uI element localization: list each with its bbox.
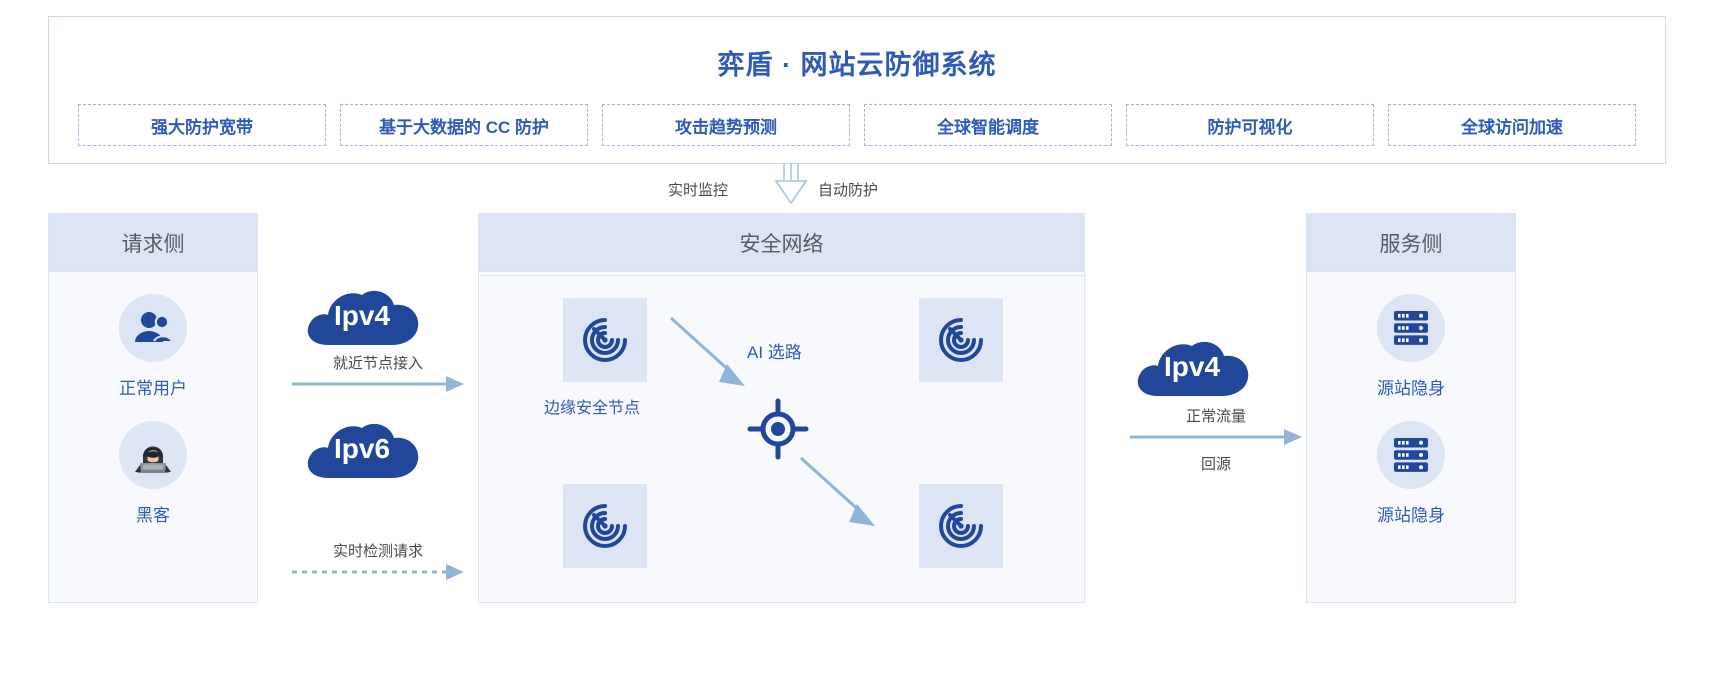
- crosshair-target-icon: [747, 398, 809, 460]
- ai-route-label: AI 选路: [747, 338, 802, 363]
- flow-detect-caption: 实时检测请求: [288, 540, 468, 561]
- feature-chip-5[interactable]: 全球访问加速: [1388, 104, 1636, 146]
- flow-access-caption: 就近节点接入: [288, 352, 468, 373]
- service-node-list: 源站隐身: [1307, 272, 1515, 526]
- hacker-icon: [119, 421, 187, 489]
- flow-origin-caption-bottom: 回源: [1126, 453, 1306, 474]
- feature-chip-2[interactable]: 攻击趋势预测: [602, 104, 850, 146]
- connector-label-right: 自动防护: [818, 179, 878, 200]
- radar-node-icon: [919, 484, 1003, 568]
- radar-node-icon: [563, 298, 647, 382]
- service-node-label-0: 源站隐身: [1307, 374, 1515, 399]
- header-to-body-connector: 实时监控 自动防护: [0, 163, 1714, 213]
- feature-chip-3[interactable]: 全球智能调度: [864, 104, 1112, 146]
- flow-access-arrow-svg: [288, 373, 468, 395]
- ai-route-arrow-out: [797, 454, 887, 541]
- edge-node-bottom-right: [919, 484, 1003, 568]
- service-side-panel: 服务侧: [1306, 213, 1516, 603]
- service-side-title: 服务侧: [1307, 214, 1515, 272]
- cloud-ipv4-right-label: Ipv4: [1130, 328, 1254, 400]
- cloud-ipv4-right-badge: Ipv4: [1130, 328, 1254, 400]
- feature-chip-0[interactable]: 强大防护宽带: [78, 104, 326, 146]
- flow-detect-arrow: 实时检测请求: [288, 540, 468, 588]
- flow-origin-arrow-svg: [1126, 426, 1306, 448]
- request-node-normal-user: 正常用户: [49, 294, 257, 399]
- edge-node-top-right: [919, 298, 1003, 382]
- request-node-label-0: 正常用户: [49, 374, 257, 399]
- cloud-ipv6-label: Ipv6: [300, 410, 424, 482]
- request-side-panel: 请求侧 正常用户: [48, 213, 258, 603]
- header-panel: 弈盾 · 网站云防御系统 强大防护宽带 基于大数据的 CC 防护 攻击趋势预测 …: [48, 16, 1666, 164]
- cloud-ipv6-badge: Ipv6: [300, 410, 424, 482]
- flow-access-arrow: 就近节点接入: [288, 352, 468, 400]
- diagram-root: 弈盾 · 网站云防御系统 强大防护宽带 基于大数据的 CC 防护 攻击趋势预测 …: [0, 0, 1714, 698]
- flow-origin-caption-top: 正常流量: [1126, 405, 1306, 426]
- request-side-title: 请求侧: [49, 214, 257, 272]
- server-icon: [1377, 421, 1445, 489]
- edge-node-top-left: 边缘安全节点: [563, 298, 647, 418]
- request-node-list: 正常用户 黑客: [49, 272, 257, 526]
- feature-chip-row: 强大防护宽带 基于大数据的 CC 防护 攻击趋势预测 全球智能调度 防护可视化 …: [49, 82, 1665, 146]
- secure-network-title: 安全网络: [479, 214, 1084, 272]
- service-node-label-1: 源站隐身: [1307, 501, 1515, 526]
- radar-node-icon: [919, 298, 1003, 382]
- feature-chip-1[interactable]: 基于大数据的 CC 防护: [340, 104, 588, 146]
- secure-network-inner: 边缘安全节点: [478, 275, 1085, 603]
- cloud-ipv4-badge: Ipv4: [300, 277, 424, 349]
- page-title: 弈盾 · 网站云防御系统: [49, 43, 1665, 82]
- request-node-label-1: 黑客: [49, 501, 257, 526]
- connector-label-left: 实时监控: [668, 179, 728, 200]
- flow-detect-arrow-svg: [288, 561, 468, 583]
- flow-origin-arrow: 正常流量 回源: [1126, 405, 1306, 474]
- service-node-1: 源站隐身: [1307, 421, 1515, 526]
- edge-node-label: 边缘安全节点: [537, 394, 647, 418]
- service-node-0: 源站隐身: [1307, 294, 1515, 399]
- server-icon: [1377, 294, 1445, 362]
- radar-node-icon: [563, 484, 647, 568]
- ai-route-arrow-in: [667, 314, 757, 401]
- feature-chip-4[interactable]: 防护可视化: [1126, 104, 1374, 146]
- cloud-ipv4-label: Ipv4: [300, 277, 424, 349]
- edge-node-bottom-left: [563, 484, 647, 568]
- request-node-hacker: 黑客: [49, 421, 257, 526]
- users-icon: [119, 294, 187, 362]
